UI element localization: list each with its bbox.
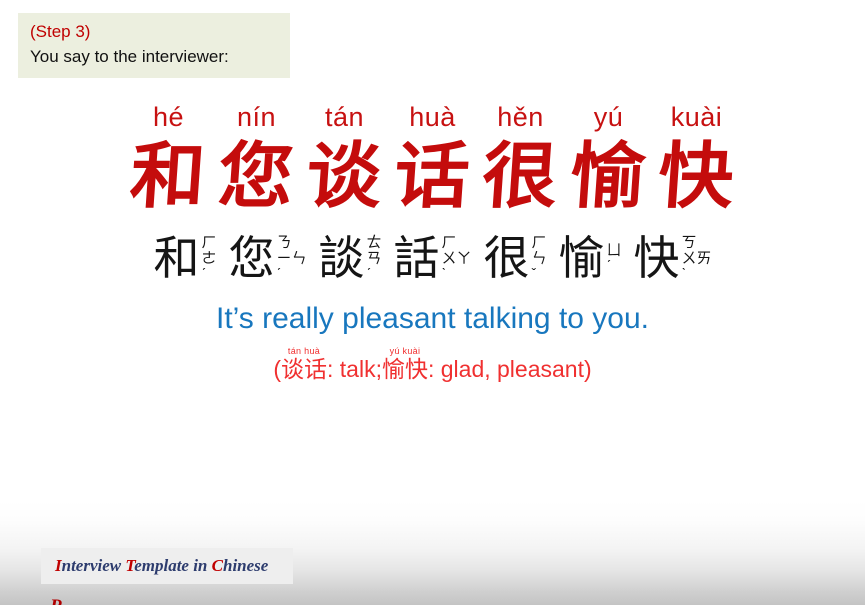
bopomofo-annotation: ㄩˊ — [607, 242, 622, 274]
gloss-term-hanzi: 愉快 — [382, 356, 428, 384]
bopomofo-annotation: ㄋㄧㄣˊ — [276, 234, 306, 282]
hanzi-character: 很 — [480, 134, 561, 218]
hanzi-character: 和 — [128, 134, 209, 218]
bopomofo-tone-mark: ˋ — [682, 266, 687, 280]
traditional-char-group: 很ㄏㄣˇ — [484, 232, 547, 284]
traditional-hanzi: 話 — [393, 232, 439, 284]
footer-capital: I — [55, 556, 62, 575]
traditional-char-group: 愉ㄩˊ — [559, 232, 622, 284]
traditional-hanzi: 談 — [318, 232, 364, 284]
footer-segment: nterview — [62, 556, 126, 575]
pinyin-syllable: kuài — [671, 100, 723, 134]
bopomofo-line-1: ㄊ — [366, 234, 381, 250]
traditional-char-group: 和ㄏㄜˊ — [153, 232, 216, 284]
char-column: kuài快 — [653, 100, 741, 218]
gloss-term: yú kuài愉快 — [382, 346, 428, 384]
slide-canvas: (Step 3) You say to the interviewer: hé和… — [0, 0, 865, 605]
bopomofo-line-1: ㄏ — [532, 234, 547, 250]
traditional-char-group: 您ㄋㄧㄣˊ — [228, 232, 306, 284]
bopomofo-line-1: ㄏ — [201, 234, 216, 250]
pinyin-syllable: hěn — [497, 100, 544, 134]
char-column: yú愉 — [565, 100, 653, 218]
bopomofo-line-2: ㄨㄚ — [441, 250, 471, 266]
bopomofo-annotation: ㄏㄨㄚˋ — [441, 234, 471, 282]
traditional-hanzi: 快 — [634, 232, 680, 284]
bopomofo-annotation: ㄏㄜˊ — [201, 234, 216, 282]
footer-segment: emplate in — [134, 556, 211, 575]
hanzi-character: 愉 — [568, 134, 649, 218]
bopomofo-line-1: ㄏ — [441, 234, 456, 250]
footer-capital: T — [125, 556, 134, 575]
traditional-hanzi: 您 — [228, 232, 274, 284]
gloss-term-pinyin: yú kuài — [390, 346, 421, 356]
traditional-hanzi: 很 — [484, 232, 530, 284]
hanzi-character: 快 — [656, 134, 737, 218]
traditional-bopomofo-row: 和ㄏㄜˊ您ㄋㄧㄣˊ談ㄊㄢˊ話ㄏㄨㄚˋ很ㄏㄣˇ愉ㄩˊ快ㄎㄨㄞˋ — [0, 232, 865, 284]
bopomofo-line-2: ㄧㄣ — [276, 250, 306, 266]
bopomofo-tone-mark: ˊ — [607, 258, 612, 272]
bopomofo-tone-mark: ˇ — [532, 266, 537, 280]
pinyin-syllable: hé — [153, 100, 184, 134]
pinyin-syllable: huà — [409, 100, 456, 134]
bopomofo-annotation: ㄊㄢˊ — [366, 234, 381, 282]
bopomofo-line-1: ㄋ — [276, 234, 291, 250]
hanzi-character: 话 — [392, 134, 473, 218]
english-translation: It’s really pleasant talking to you. — [0, 300, 865, 338]
bopomofo-annotation: ㄎㄨㄞˋ — [682, 234, 712, 282]
footer-title: Interview Template in Chinese — [55, 556, 268, 576]
footer-capital: C — [212, 556, 223, 575]
bopomofo-tone-mark: ˋ — [441, 266, 446, 280]
bopomofo-line-2: ㄨㄞ — [682, 250, 712, 266]
pinyin-syllable: tán — [325, 100, 364, 134]
footer-partial-letter: P — [50, 596, 62, 605]
traditional-char-group: 談ㄊㄢˊ — [318, 232, 381, 284]
step-callout-box: (Step 3) You say to the interviewer: — [18, 13, 290, 78]
bopomofo-tone-mark: ˊ — [366, 266, 371, 280]
traditional-hanzi: 和 — [153, 232, 199, 284]
bopomofo-line-2: ㄣ — [532, 250, 547, 266]
bopomofo-tone-mark: ˊ — [276, 266, 281, 280]
char-column: nín您 — [213, 100, 301, 218]
traditional-hanzi: 愉 — [559, 232, 605, 284]
char-column: hěn很 — [477, 100, 565, 218]
vocabulary-gloss: (tán huà谈话: talk; yú kuài愉快: glad, pleas… — [0, 346, 865, 384]
gloss-definition: : talk; — [327, 354, 382, 384]
bopomofo-line-2: ㄢ — [366, 250, 381, 266]
bopomofo-line-2: ㄜ — [201, 250, 216, 266]
traditional-char-group: 快ㄎㄨㄞˋ — [634, 232, 712, 284]
char-column: tán谈 — [301, 100, 389, 218]
hanzi-character: 谈 — [304, 134, 385, 218]
char-column: huà话 — [389, 100, 477, 218]
gloss-close-paren: ) — [584, 354, 592, 384]
step-instruction: You say to the interviewer: — [30, 44, 290, 69]
traditional-char-group: 話ㄏㄨㄚˋ — [393, 232, 471, 284]
gloss-term-hanzi: 谈话 — [281, 356, 327, 384]
bopomofo-tone-mark: ˊ — [201, 266, 206, 280]
footer-tag-box: Interview Template in Chinese — [41, 548, 293, 584]
char-column: hé和 — [125, 100, 213, 218]
bopomofo-annotation: ㄏㄣˇ — [532, 234, 547, 282]
pinyin-syllable: nín — [237, 100, 276, 134]
gloss-term: tán huà谈话 — [281, 346, 327, 384]
hanzi-character: 您 — [216, 134, 297, 218]
gloss-definition: : glad, pleasant — [428, 354, 584, 384]
pinyin-syllable: yú — [594, 100, 624, 134]
bopomofo-line-1: ㄎ — [682, 234, 697, 250]
sentence-block: hé和nín您tán谈huà话hěn很yú愉kuài快 和ㄏㄜˊ您ㄋㄧㄣˊ談ㄊㄢ… — [0, 100, 865, 384]
bopomofo-line-1: ㄩ — [607, 242, 622, 258]
footer-segment: hinese — [223, 556, 268, 575]
gloss-open-paren: ( — [273, 354, 281, 384]
step-label: (Step 3) — [30, 20, 290, 44]
pinyin-hanzi-row: hé和nín您tán谈huà话hěn很yú愉kuài快 — [0, 100, 865, 218]
gloss-term-pinyin: tán huà — [288, 346, 320, 356]
